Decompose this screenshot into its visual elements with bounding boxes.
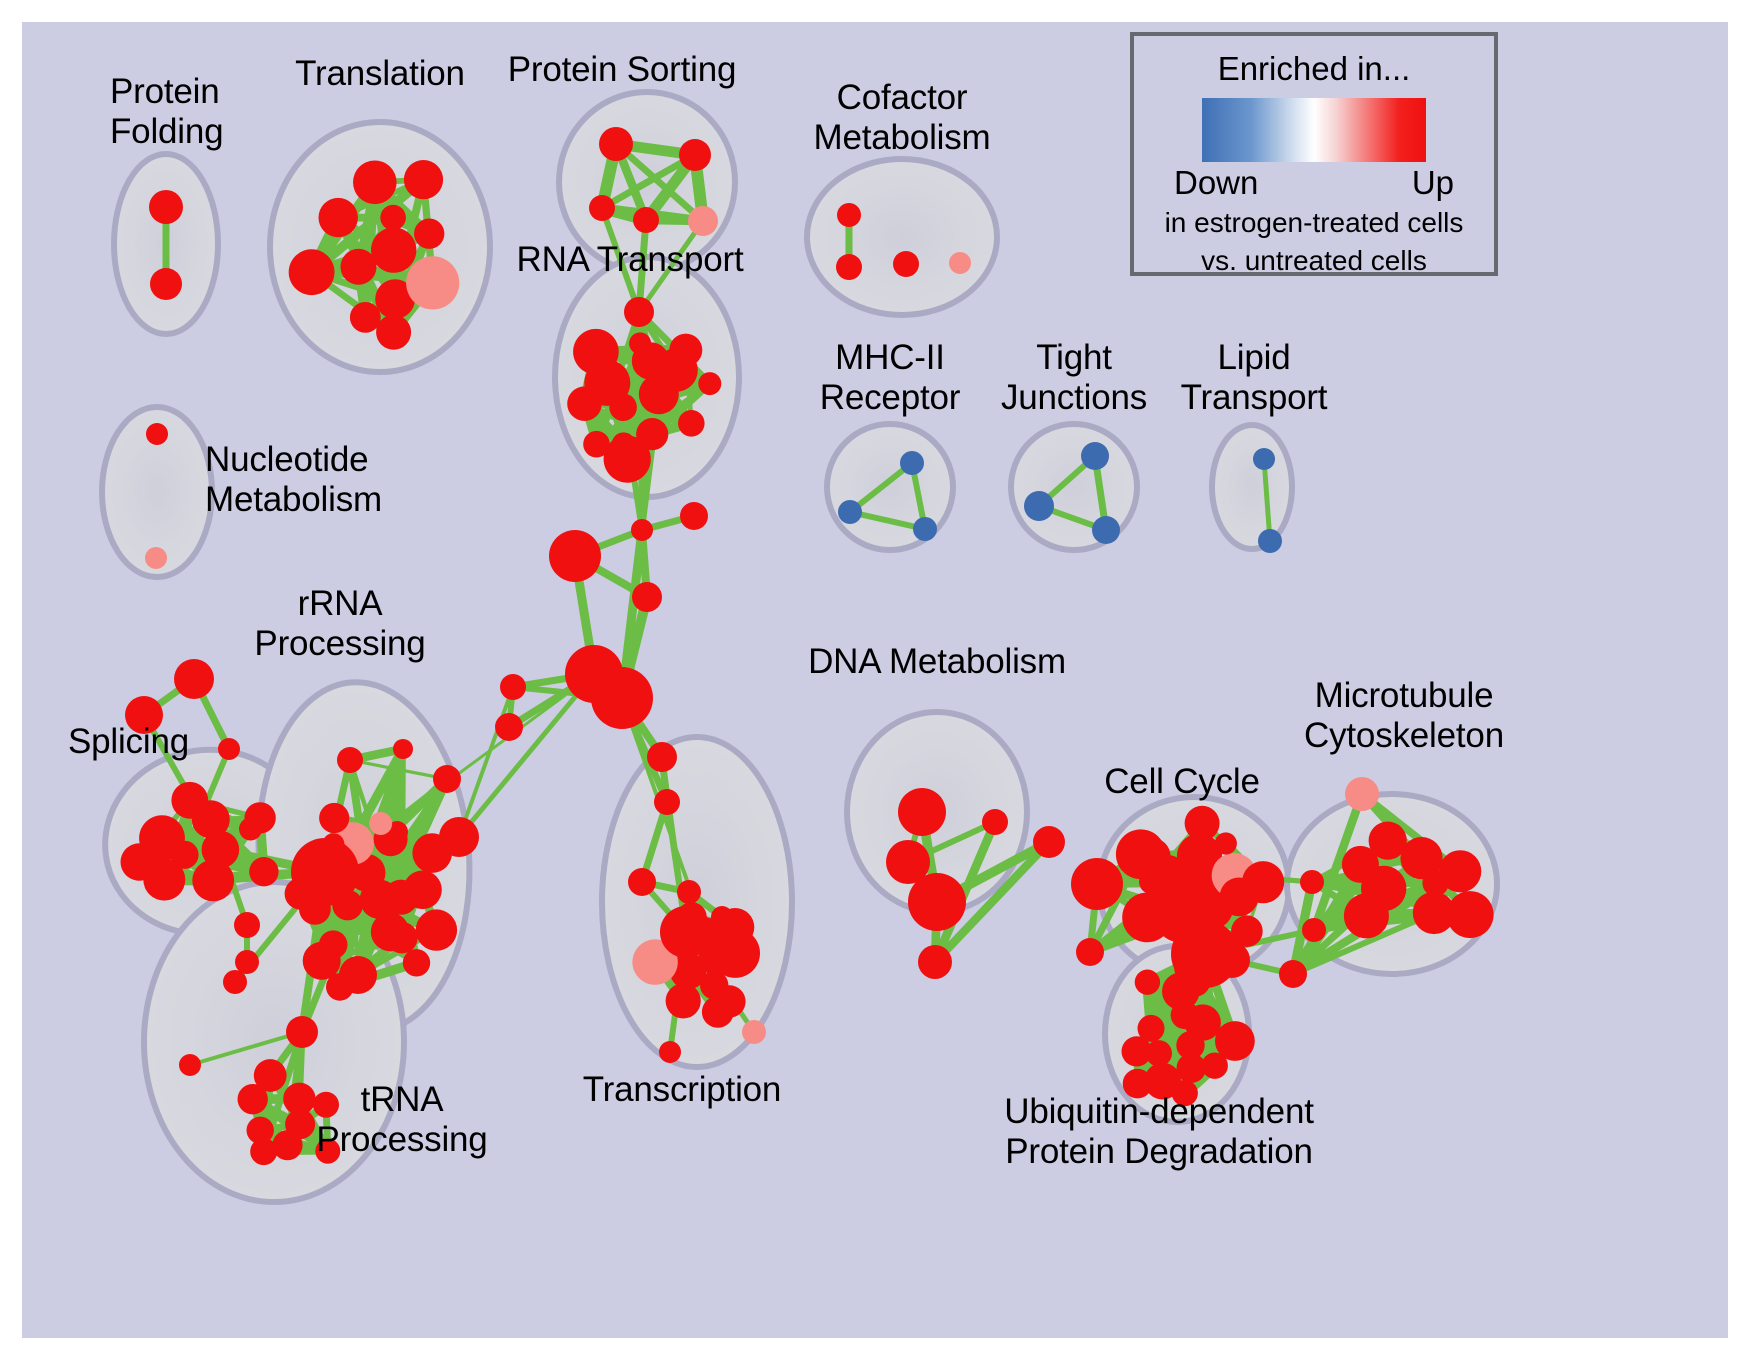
network-node (121, 843, 158, 880)
network-node (289, 249, 335, 295)
network-node (647, 742, 677, 772)
network-node (632, 582, 662, 612)
network-node (286, 1016, 318, 1048)
network-node (319, 803, 349, 833)
network-node (1344, 893, 1389, 938)
network-node (406, 256, 459, 309)
network-node (1135, 970, 1160, 995)
legend-title: Enriched in... (1134, 50, 1494, 88)
network-node (291, 838, 359, 906)
network-node (604, 436, 651, 483)
network-node (272, 1130, 302, 1160)
network-node (149, 190, 183, 224)
network-node (654, 789, 680, 815)
legend-subtitle-line1: in estrogen-treated cells (1134, 206, 1494, 240)
network-node (1345, 777, 1379, 811)
network-node (1215, 1021, 1255, 1061)
network-node (146, 423, 168, 445)
network-node (1439, 850, 1481, 892)
network-node (403, 949, 430, 976)
network-edge (459, 687, 513, 837)
network-node (174, 659, 214, 699)
network-node (589, 195, 615, 221)
network-node (742, 1020, 766, 1044)
network-node (1177, 1053, 1207, 1083)
network-node (179, 1054, 201, 1076)
network-node (678, 410, 705, 437)
network-canvas: Protein Folding Translation Protein Sort… (22, 22, 1728, 1338)
network-node (495, 713, 523, 741)
network-node (439, 817, 479, 857)
network-node (949, 252, 971, 274)
network-node (1369, 822, 1407, 860)
network-node (1116, 829, 1166, 879)
network-node (631, 519, 653, 541)
cluster-label-transcription: Transcription (583, 1070, 781, 1110)
network-node (234, 912, 260, 938)
cluster-label-trna-processing: tRNA Processing (316, 1080, 487, 1160)
cluster-hull-lipid-transport (1212, 425, 1292, 549)
network-node (393, 739, 413, 759)
network-node (629, 332, 651, 354)
network-node (1242, 861, 1284, 903)
network-node (1214, 942, 1250, 978)
cluster-label-microtubule-cytoskeleton: Microtubule Cytoskeleton (1304, 676, 1504, 756)
network-node (716, 908, 754, 946)
network-node (1181, 839, 1205, 863)
network-node (982, 809, 1008, 835)
network-node (319, 198, 358, 237)
network-node (1302, 918, 1326, 942)
cluster-label-protein-sorting: Protein Sorting (508, 50, 737, 90)
network-node (192, 860, 234, 902)
network-node (1300, 870, 1324, 894)
cluster-hull-cofactor-metabolism (807, 159, 997, 315)
network-node (254, 1059, 287, 1092)
network-node (1076, 938, 1104, 966)
legend-subtitle-line2: vs. untreated cells (1134, 244, 1494, 278)
network-node (403, 871, 442, 910)
network-node (908, 873, 966, 931)
figure-root: Protein Folding Translation Protein Sort… (0, 0, 1750, 1360)
network-node (698, 372, 721, 395)
network-node (433, 765, 461, 793)
network-node (1447, 891, 1494, 938)
network-node (836, 254, 862, 280)
network-node (567, 386, 602, 421)
network-node (660, 906, 712, 958)
network-node (414, 219, 444, 249)
network-node (1122, 1036, 1152, 1066)
network-node (677, 880, 701, 904)
network-node (1122, 893, 1172, 943)
network-node (235, 950, 259, 974)
cluster-label-protein-folding: Protein Folding (110, 72, 223, 152)
network-node (573, 329, 619, 375)
network-node (341, 249, 377, 285)
legend-color-gradient-bar (1202, 98, 1426, 162)
network-node (669, 334, 702, 367)
network-node (1033, 826, 1065, 858)
network-node (913, 517, 937, 541)
cluster-label-rna-transport: RNA Transport (517, 240, 744, 280)
network-node (624, 297, 654, 327)
network-node (171, 782, 208, 819)
legend-low-label: Down (1174, 164, 1258, 202)
network-node (150, 268, 182, 300)
network-node (1071, 858, 1123, 910)
network-node (680, 502, 708, 530)
cluster-label-tight-junctions: Tight Junctions (1001, 338, 1147, 418)
cluster-label-cofactor-metabolism: Cofactor Metabolism (814, 78, 991, 158)
network-node (250, 1138, 277, 1165)
network-node (500, 674, 526, 700)
cluster-label-translation: Translation (295, 54, 465, 94)
network-node (1024, 491, 1054, 521)
cluster-label-mhc-ii-receptor: MHC-II Receptor (820, 338, 960, 418)
network-node (599, 127, 633, 161)
network-node (404, 160, 443, 199)
network-node (1185, 806, 1220, 841)
network-node (326, 973, 354, 1001)
network-node (838, 500, 862, 524)
network-node (283, 1083, 315, 1115)
cluster-label-ubiquitin: Ubiquitin-dependent Protein Degradation (1004, 1092, 1314, 1172)
network-node (376, 315, 411, 350)
cluster-label-dna-metabolism: DNA Metabolism (808, 642, 1066, 682)
network-node (337, 747, 363, 773)
cluster-label-nucleotide-metabolism: Nucleotide Metabolism (205, 440, 382, 520)
legend-high-label: Up (1412, 164, 1454, 202)
network-node (900, 451, 924, 475)
network-node (380, 205, 406, 231)
network-node (591, 667, 653, 729)
cluster-label-cell-cycle: Cell Cycle (1104, 762, 1260, 802)
network-node (837, 203, 861, 227)
network-node (353, 161, 397, 205)
network-node (350, 302, 381, 333)
network-node (659, 1041, 681, 1063)
network-node (1279, 960, 1307, 988)
cluster-label-rrna-processing: rRNA Processing (254, 584, 425, 664)
network-node (1258, 529, 1282, 553)
network-node (244, 802, 275, 833)
network-node (688, 206, 718, 236)
network-node (549, 530, 601, 582)
cluster-label-lipid-transport: Lipid Transport (1181, 338, 1328, 418)
network-node (893, 251, 919, 277)
legend-box: Enriched in... Down Up in estrogen-treat… (1130, 32, 1498, 276)
network-node (145, 547, 167, 569)
network-node (1185, 1004, 1221, 1040)
network-node (583, 431, 610, 458)
network-node (679, 139, 711, 171)
network-node (1253, 448, 1275, 470)
network-node (1174, 949, 1211, 986)
network-node (1092, 516, 1120, 544)
network-node (218, 738, 240, 760)
network-node (223, 970, 247, 994)
network-node (628, 868, 656, 896)
network-node (702, 996, 734, 1028)
network-node (1215, 832, 1237, 854)
network-node (918, 945, 952, 979)
network-node (1400, 837, 1442, 879)
network-node (416, 909, 457, 950)
network-node (249, 857, 278, 886)
network-node (386, 922, 418, 954)
network-edge (459, 674, 594, 837)
network-node (369, 812, 392, 835)
network-node (1081, 442, 1109, 470)
cluster-label-splicing: Splicing (68, 722, 189, 762)
network-node (666, 983, 701, 1018)
network-node (633, 207, 659, 233)
network-node (371, 227, 416, 272)
network-node (898, 788, 946, 836)
